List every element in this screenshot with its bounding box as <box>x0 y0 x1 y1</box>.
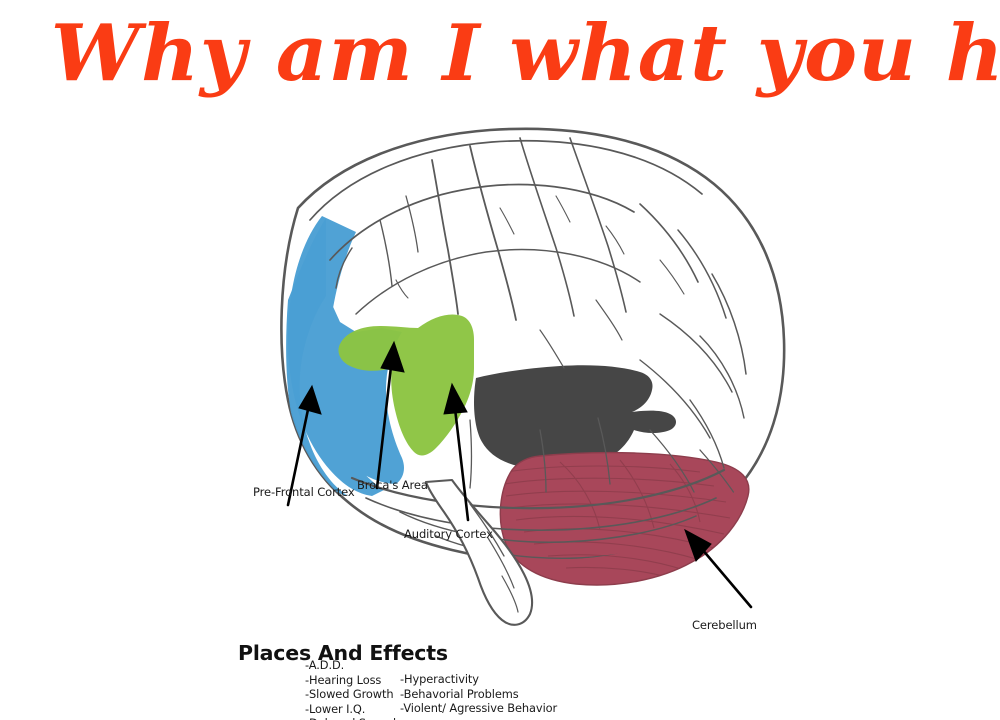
infographic-page: ICESaturn Nobel Prize Submission Exhibit… <box>0 0 1000 720</box>
label-auditory-cortex: Auditory Cortex <box>404 527 493 541</box>
effects-list-right: -Hyperactivity -Behavorial Problems -Vio… <box>400 672 557 716</box>
figure-caption: Places And Effects <box>238 641 448 665</box>
effect-item: -Lower I.Q. <box>305 702 400 717</box>
label-pre-frontal-cortex: Pre-Frontal Cortex <box>253 485 355 499</box>
effect-item: -Violent/ Agressive Behavior <box>400 701 557 716</box>
brain-figure: Pre-Frontal Cortex Broca's Area Auditory… <box>0 100 1000 660</box>
brain-illustration <box>0 100 1000 660</box>
effect-item: -Hearing Loss <box>305 673 400 688</box>
effect-item: -Delayed Speech <box>305 716 400 720</box>
label-cerebellum: Cerebellum <box>692 618 757 632</box>
effects-list-left: -A.D.D. -Hearing Loss -Slowed Growth -Lo… <box>305 658 400 720</box>
effect-item: -Slowed Growth <box>305 687 400 702</box>
page-title: Why am I what you hate? <box>51 6 1000 102</box>
region-cerebellum <box>500 453 749 585</box>
effect-item: -Behavorial Problems <box>400 687 557 702</box>
effect-item: -Hyperactivity <box>400 672 557 687</box>
label-brocas-area: Broca's Area <box>357 478 428 492</box>
